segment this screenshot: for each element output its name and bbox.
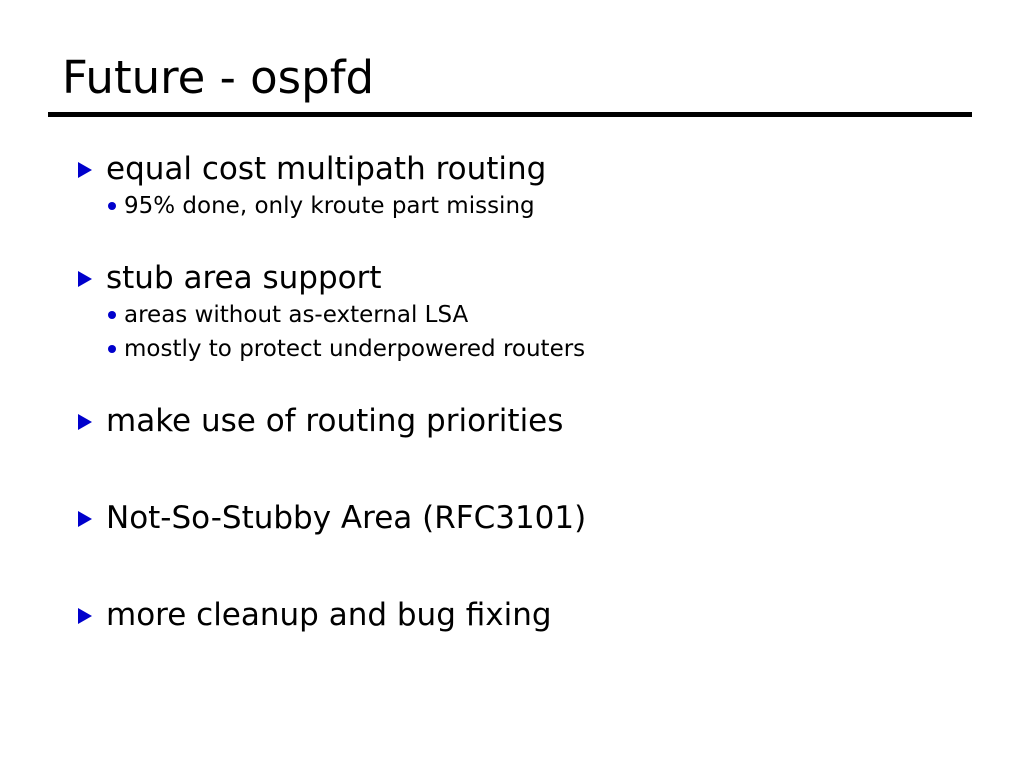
group-spacer [0,477,1024,499]
bullet-label: mostly to protect underpowered routers [124,336,585,362]
group-spacer [0,366,1024,402]
bullet-item-level1: make use of routing priorities [0,402,1024,441]
group-spacer [0,538,1024,574]
bullet-group: make use of routing priorities [0,402,1024,441]
bullet-group: equal cost multipath routing 95% done, o… [0,150,1024,223]
bullet-label: stub area support [106,260,382,296]
bullet-item-level2: mostly to protect underpowered routers [0,332,1024,366]
group-spacer [0,441,1024,477]
bullet-group: Not-So-Stubby Area (RFC3101) [0,499,1024,538]
bullet-list: equal cost multipath routing 95% done, o… [0,150,1024,635]
bullet-label: equal cost multipath routing [106,151,546,187]
bullet-label: 95% done, only kroute part missing [124,193,535,219]
triangle-right-icon [78,271,92,287]
dot-icon [108,202,116,210]
dot-icon [108,345,116,353]
group-spacer [0,223,1024,259]
bullet-label: more cleanup and bug fixing [106,597,552,633]
triangle-right-icon [78,414,92,430]
triangle-right-icon [78,162,92,178]
bullet-item-level1: more cleanup and bug fixing [0,596,1024,635]
bullet-item-level2: 95% done, only kroute part missing [0,189,1024,223]
page-title: Future - ospfd [62,52,374,104]
bullet-item-level1: stub area support [0,259,1024,298]
bullet-item-level1: Not-So-Stubby Area (RFC3101) [0,499,1024,538]
bullet-item-level2: areas without as-external LSA [0,298,1024,332]
bullet-label: make use of routing priorities [106,403,563,439]
dot-icon [108,311,116,319]
bullet-group: stub area support areas without as-exter… [0,259,1024,366]
bullet-label: areas without as-external LSA [124,302,468,328]
bullet-label: Not-So-Stubby Area (RFC3101) [106,500,586,536]
triangle-right-icon [78,608,92,624]
title-divider [48,112,972,117]
bullet-item-level1: equal cost multipath routing [0,150,1024,189]
group-spacer [0,574,1024,596]
presentation-slide: Future - ospfd equal cost multipath rout… [0,0,1024,768]
triangle-right-icon [78,511,92,527]
bullet-group: more cleanup and bug fixing [0,596,1024,635]
